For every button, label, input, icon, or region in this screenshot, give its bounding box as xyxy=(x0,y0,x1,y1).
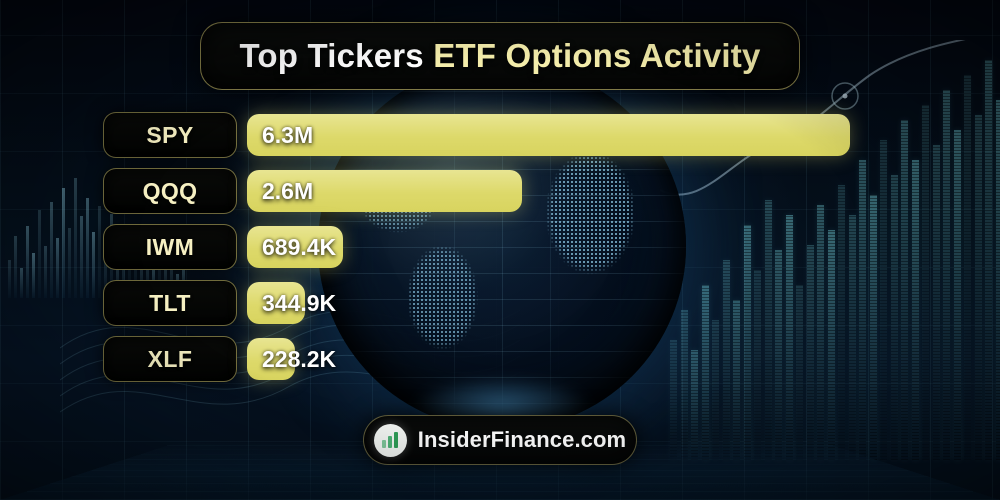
vignette-overlay xyxy=(0,0,1000,500)
infographic-canvas: Top Tickers ETF Options Activity SPY6.3M… xyxy=(0,0,1000,500)
